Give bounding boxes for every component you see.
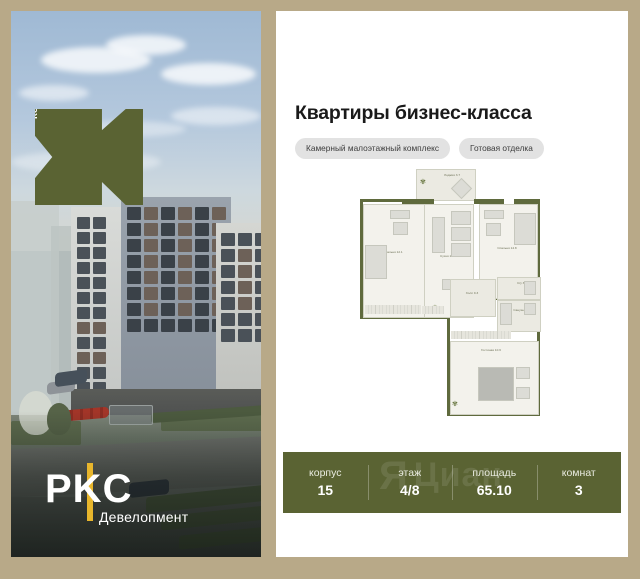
nightstand-furniture [516,387,530,399]
kitchen-unit [451,211,471,225]
cloud-shape [106,35,186,55]
window-grid [127,207,226,332]
stat-value-area: 65.10 [477,482,512,498]
floor-tile-strip [365,305,421,314]
stat-rooms: комнат 3 [537,452,622,513]
desk-furniture [393,222,408,235]
wall-segment [360,199,404,202]
kitchen-unit [451,243,471,257]
wardrobe-furniture [390,210,410,219]
window-grid [77,217,106,394]
apartment-stats-bar: Я Циан корпус 15 этаж 4/8 площадь 65.10 … [283,452,621,513]
stat-label-building: корпус [309,467,341,479]
nightstand-furniture [516,367,530,379]
kitchen-counter [432,217,445,253]
toilet-fixture [524,303,536,315]
bed-furniture [365,245,387,279]
room-label-loggia: Лоджия 3.7 [432,174,472,178]
room-hall [450,279,496,317]
promo-image-panel: Коллекция жилой комплекс PKC Девелопмент [11,11,261,557]
room-label-living-lower: Гостиная 10.6 [471,349,511,353]
feature-badge-row: Камерный малоэтажный комплекс Готовая от… [295,138,544,159]
cloud-shape [19,85,89,101]
floor-tile-strip [422,306,444,314]
stat-floor: этаж 4/8 [368,452,453,513]
cloud-shape [161,63,256,85]
room-label-bathroom-small: С/у 3.1 [502,282,542,286]
listing-info-panel: Квартиры бизнес-класса Камерный малоэтаж… [276,11,628,557]
floor-tile-strip [451,331,511,339]
stat-building: корпус 15 [283,452,368,513]
feature-badge-finishing: Готовая отделка [459,138,544,159]
plant-icon: ✾ [420,179,426,186]
stat-area: площадь 65.10 [452,452,537,513]
feature-badge-complex: Камерный малоэтажный комплекс [295,138,450,159]
plant-icon: ✾ [452,401,458,408]
logo-wordmark: PKC [45,469,195,509]
sink-fixture [524,281,536,295]
bathtub-fixture [500,303,512,325]
cloud-shape [171,107,261,125]
stat-label-floor: этаж [398,467,421,479]
room-label-bedroom-right: Спальня 14.8 [487,247,527,251]
stat-label-area: площадь [472,467,516,479]
desk-furniture [486,223,501,236]
window-grid [221,233,261,342]
room-label-hall: Холл 9.3 [452,292,492,296]
stat-value-floor: 4/8 [400,482,419,498]
stat-value-building: 15 [317,482,333,498]
bed-furniture [478,367,514,401]
kitchen-unit [451,227,471,241]
logo-subtitle: Девелопмент [99,509,188,525]
page-title: Квартиры бизнес-класса [295,102,532,125]
wardrobe-furniture [484,210,504,219]
stat-label-rooms: комнат [562,467,596,479]
apartment-floor-plan[interactable]: Лоджия 3.7 ✾ Спальня 12.1 Кухня 13.7 ✾ [354,169,544,419]
developer-logo: PKC Девелопмент [45,463,195,525]
bed-furniture [514,213,536,245]
stat-value-rooms: 3 [575,482,583,498]
